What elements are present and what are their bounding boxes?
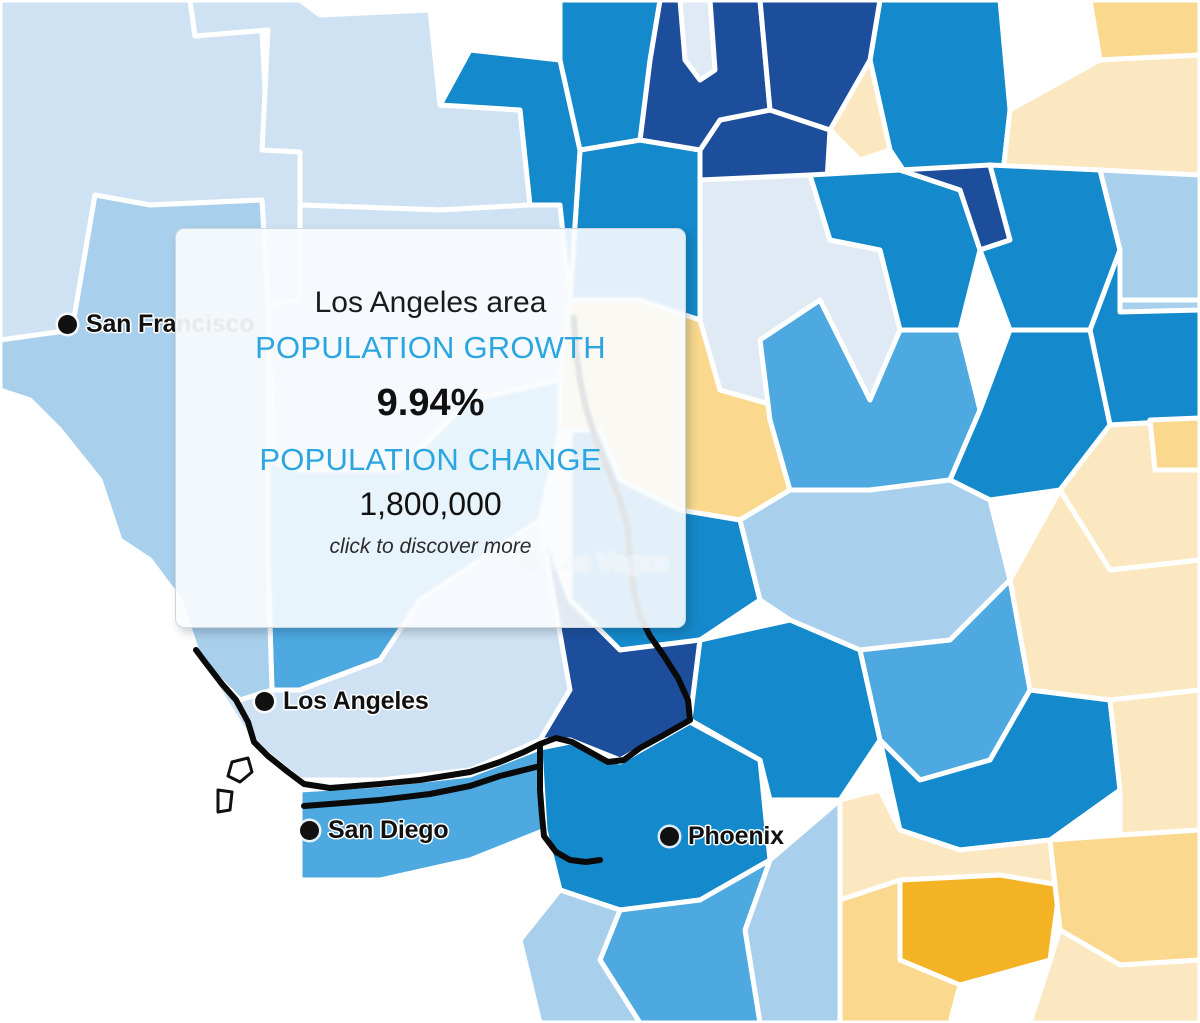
county-region [1120,300,1200,312]
tooltip-change-label: POPULATION CHANGE [259,444,601,477]
tooltip-hint[interactable]: click to discover more [330,536,532,558]
tooltip-growth-value: 9.94% [377,384,485,424]
tooltip-change-value: 1,800,000 [359,488,501,522]
tooltip-title: Los Angeles area [315,287,547,319]
map-canvas[interactable]: Las Vegas San Francisco Los Angeles San … [0,0,1200,1023]
county-region [1150,418,1200,470]
island [218,790,232,812]
tooltip-growth-label: POPULATION GROWTH [255,332,606,365]
map-tooltip[interactable]: Los Angeles area POPULATION GROWTH 9.94%… [175,228,686,628]
county-region [1110,690,1200,835]
